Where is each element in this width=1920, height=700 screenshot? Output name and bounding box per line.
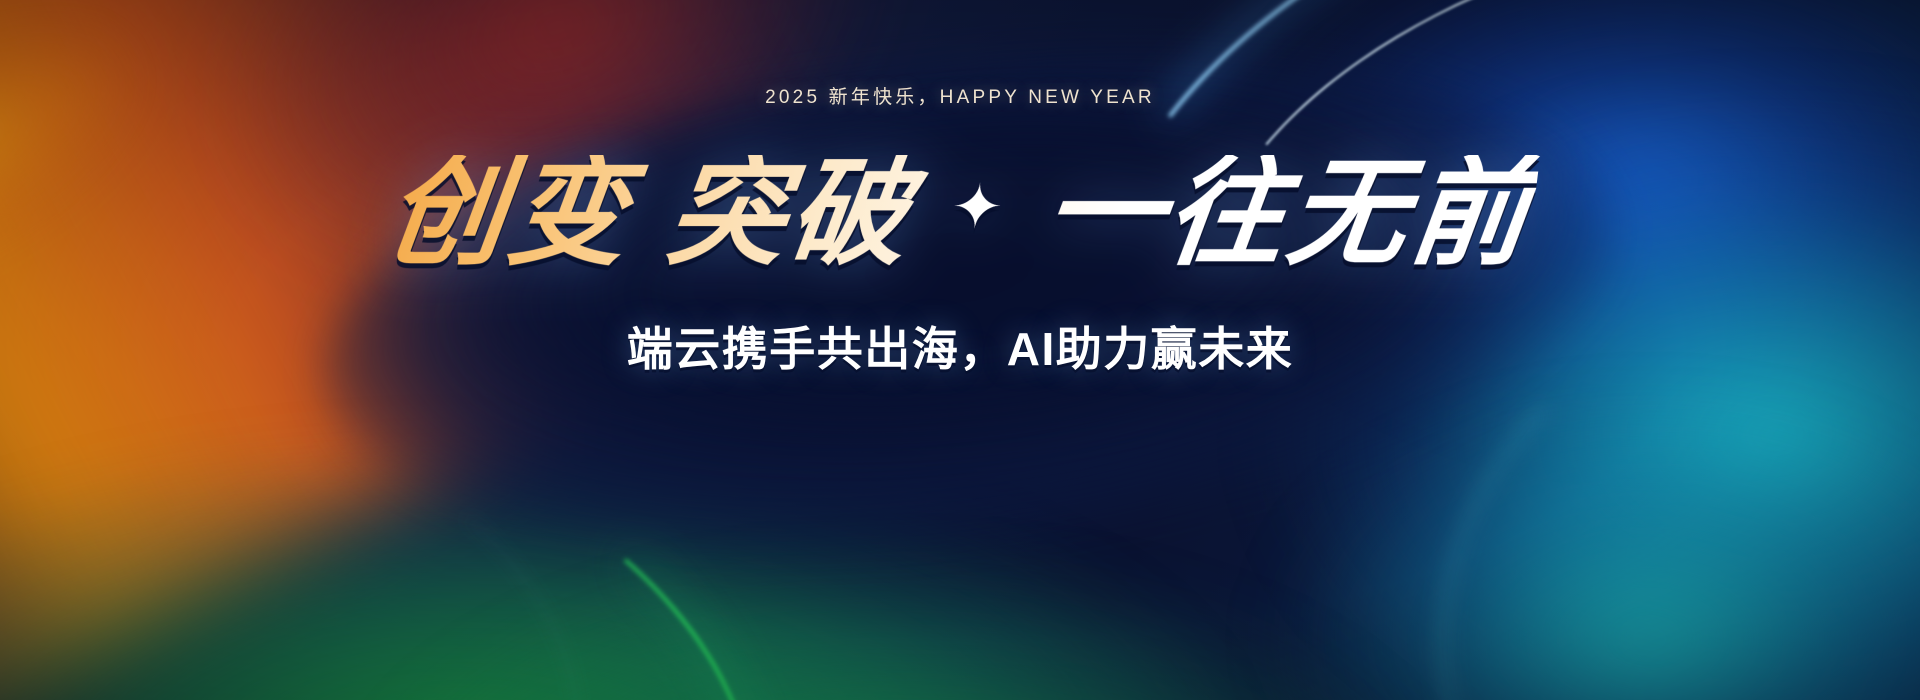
title-segment-1: 创变 xyxy=(379,148,639,280)
sparkle-icon: ✦ xyxy=(945,173,1013,242)
banner-tagline: 2025 新年快乐，HAPPY NEW YEAR xyxy=(765,82,1155,109)
title-segment-2: 突破 xyxy=(660,148,920,280)
new-year-banner: 2025 新年快乐，HAPPY NEW YEAR 创变 突破 ✦ 一往无前 端云… xyxy=(0,0,1920,700)
banner-title: 创变 突破 ✦ 一往无前 xyxy=(380,155,1540,273)
banner-subtitle: 端云携手共出海，AI助力赢未来 xyxy=(627,313,1294,379)
title-segment-3: 一往无前 xyxy=(1037,148,1541,280)
banner-content: 2025 新年快乐，HAPPY NEW YEAR 创变 突破 ✦ 一往无前 端云… xyxy=(0,0,1920,700)
